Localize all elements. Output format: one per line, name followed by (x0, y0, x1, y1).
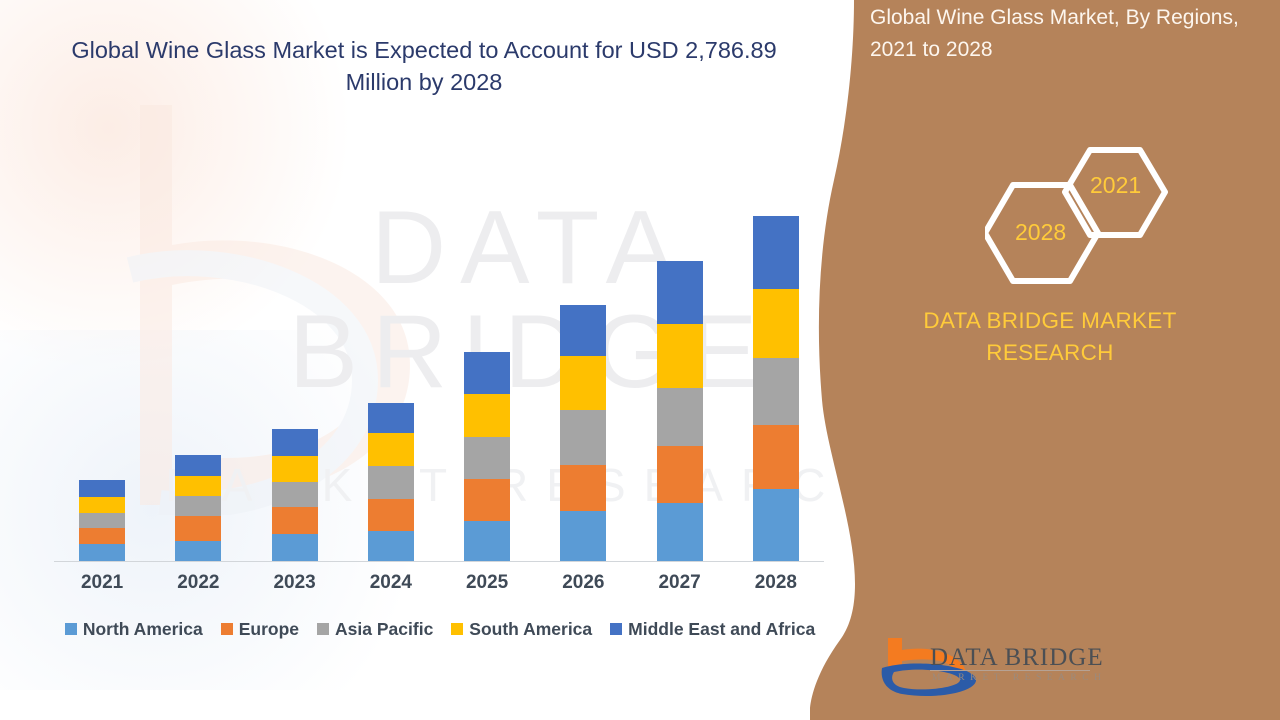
bar-segment[interactable] (464, 352, 510, 394)
logo-tagline: MARKET RESEARCH (932, 673, 1106, 683)
bar-segment[interactable] (79, 497, 125, 513)
x-axis-labels: 20212022202320242025202620272028 (54, 572, 824, 602)
bar-segment[interactable] (175, 455, 221, 476)
bar-segment[interactable] (560, 305, 606, 356)
bar-segment[interactable] (79, 544, 125, 561)
x-axis-line (54, 561, 824, 562)
bar-stack[interactable] (560, 305, 606, 561)
bar-stack[interactable] (79, 480, 125, 561)
bar-segment[interactable] (272, 429, 318, 456)
bar-segment[interactable] (464, 394, 510, 437)
bar-stack[interactable] (657, 261, 703, 561)
bar-segment[interactable] (657, 261, 703, 324)
right-panel: Global Wine Glass Market, By Regions, 20… (810, 0, 1280, 720)
bar-segment[interactable] (560, 465, 606, 511)
bar-stack[interactable] (753, 216, 799, 561)
bar-segment[interactable] (175, 516, 221, 541)
bar-segment[interactable] (657, 388, 703, 446)
x-axis-tick-label: 2024 (343, 572, 439, 594)
x-axis-tick-label: 2023 (247, 572, 343, 594)
bar-segment[interactable] (464, 437, 510, 479)
panel-title: Global Wine Glass Market, By Regions, 20… (870, 2, 1270, 66)
bar-segment[interactable] (272, 456, 318, 482)
bar-segment[interactable] (272, 482, 318, 507)
panel-brand-line1: DATA BRIDGE MARKET (923, 308, 1176, 333)
bar-segment[interactable] (79, 480, 125, 497)
legend-item[interactable]: South America (451, 619, 592, 640)
bar-segment[interactable] (753, 289, 799, 358)
bar-segment[interactable] (79, 528, 125, 544)
legend-label: Europe (239, 619, 299, 640)
bar-segment[interactable] (464, 521, 510, 561)
stacked-bar-chart (54, 150, 824, 562)
logo-wordmark: DATA BRIDGE (930, 644, 1104, 672)
bar-segment[interactable] (560, 410, 606, 465)
legend-item[interactable]: Asia Pacific (317, 619, 433, 640)
bar-segment[interactable] (560, 511, 606, 561)
bar-segment[interactable] (753, 425, 799, 489)
legend-swatch (65, 623, 77, 635)
bar-segment[interactable] (657, 324, 703, 388)
legend-swatch (221, 623, 233, 635)
legend-item[interactable]: Middle East and Africa (610, 619, 815, 640)
legend-swatch (451, 623, 463, 635)
bar-segment[interactable] (464, 479, 510, 521)
legend-label: Middle East and Africa (628, 619, 815, 640)
hexagon-2028-label: 2028 (1015, 219, 1066, 246)
bar-segment[interactable] (175, 496, 221, 516)
bar-segment[interactable] (175, 541, 221, 561)
x-axis-tick-label: 2025 (439, 572, 535, 594)
x-axis-tick-label: 2022 (150, 572, 246, 594)
bar-segment[interactable] (368, 433, 414, 466)
bar-segment[interactable] (368, 466, 414, 499)
bar-segment[interactable] (657, 503, 703, 561)
bar-stack[interactable] (464, 352, 510, 561)
bar-segment[interactable] (368, 499, 414, 531)
bar-segment[interactable] (368, 403, 414, 433)
bar-segment[interactable] (753, 489, 799, 561)
chart-legend: North AmericaEuropeAsia PacificSouth Ame… (50, 616, 830, 642)
bar-segment[interactable] (560, 356, 606, 410)
page-title: Global Wine Glass Market is Expected to … (64, 34, 784, 98)
panel-brand-line2: RESEARCH (986, 340, 1113, 365)
legend-label: North America (83, 619, 203, 640)
bar-segment[interactable] (272, 534, 318, 561)
bar-segment[interactable] (79, 513, 125, 528)
legend-label: South America (469, 619, 592, 640)
x-axis-tick-label: 2026 (535, 572, 631, 594)
bar-segment[interactable] (657, 446, 703, 503)
x-axis-tick-label: 2021 (54, 572, 150, 594)
legend-item[interactable]: Europe (221, 619, 299, 640)
bar-stack[interactable] (368, 403, 414, 561)
bar-stack[interactable] (272, 429, 318, 561)
bar-segment[interactable] (272, 507, 318, 534)
slide-canvas: DATA BRIDGE MARKET RESEARCH Global Wine … (0, 0, 1280, 720)
legend-swatch (610, 623, 622, 635)
legend-label: Asia Pacific (335, 619, 433, 640)
bar-segment[interactable] (753, 216, 799, 289)
panel-brand: DATA BRIDGE MARKET RESEARCH (830, 305, 1270, 369)
bar-segment[interactable] (753, 358, 799, 425)
hexagon-2021-label: 2021 (1090, 172, 1141, 199)
x-axis-tick-label: 2027 (632, 572, 728, 594)
bar-stack[interactable] (175, 455, 221, 561)
legend-item[interactable]: North America (65, 619, 203, 640)
bar-segment[interactable] (175, 476, 221, 496)
bar-segment[interactable] (368, 531, 414, 561)
legend-swatch (317, 623, 329, 635)
logo-divider (930, 670, 1090, 671)
